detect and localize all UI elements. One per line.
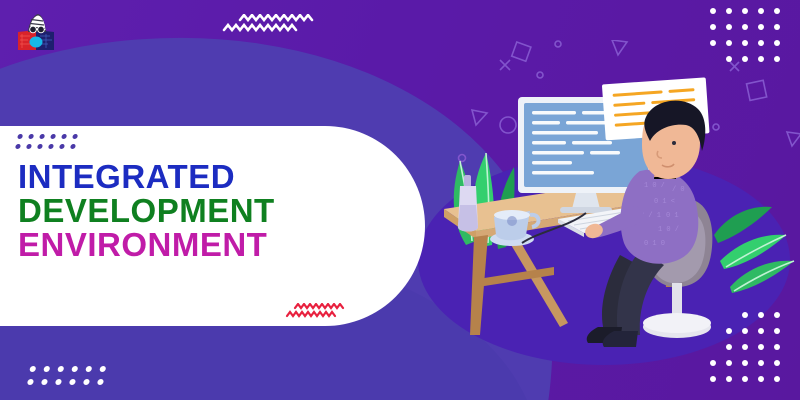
svg-text:0 1 <: 0 1 < — [654, 198, 675, 206]
headline-line-3: ENVIRONMENT — [18, 228, 275, 262]
white-zigzag — [222, 14, 318, 36]
site-logo[interactable] — [12, 10, 60, 58]
dot-grid-bottom-right — [710, 312, 790, 392]
svg-text:/ 0: / 0 — [672, 186, 685, 194]
svg-text:1 0 /: 1 0 / — [644, 182, 665, 190]
triangle-outline — [612, 40, 627, 55]
headline-line-1: INTEGRATED — [18, 160, 275, 194]
page-title: INTEGRATED DEVELOPMENT ENVIRONMENT — [18, 160, 275, 262]
ide-banner: 1 0 / 0 1 < < / 1 1 0 / 0 1 0 0 1 / 0 — [0, 0, 800, 400]
white-pill-card: INTEGRATED DEVELOPMENT ENVIRONMENT — [0, 126, 425, 326]
card-dot-grid — [14, 134, 84, 154]
svg-text:1 0 /: 1 0 / — [658, 226, 679, 234]
pink-zigzag — [285, 303, 351, 321]
svg-text:0 1 0: 0 1 0 — [644, 240, 665, 248]
svg-text:0 1: 0 1 — [666, 212, 679, 220]
person-eye — [672, 141, 676, 145]
dot-grid-top-right — [710, 8, 790, 72]
dot-grid-bottom-left — [26, 366, 115, 392]
circle-outline — [555, 41, 561, 47]
monitor-stand — [572, 193, 600, 209]
logo-badge — [30, 37, 43, 48]
headline-line-2: DEVELOPMENT — [18, 194, 275, 228]
